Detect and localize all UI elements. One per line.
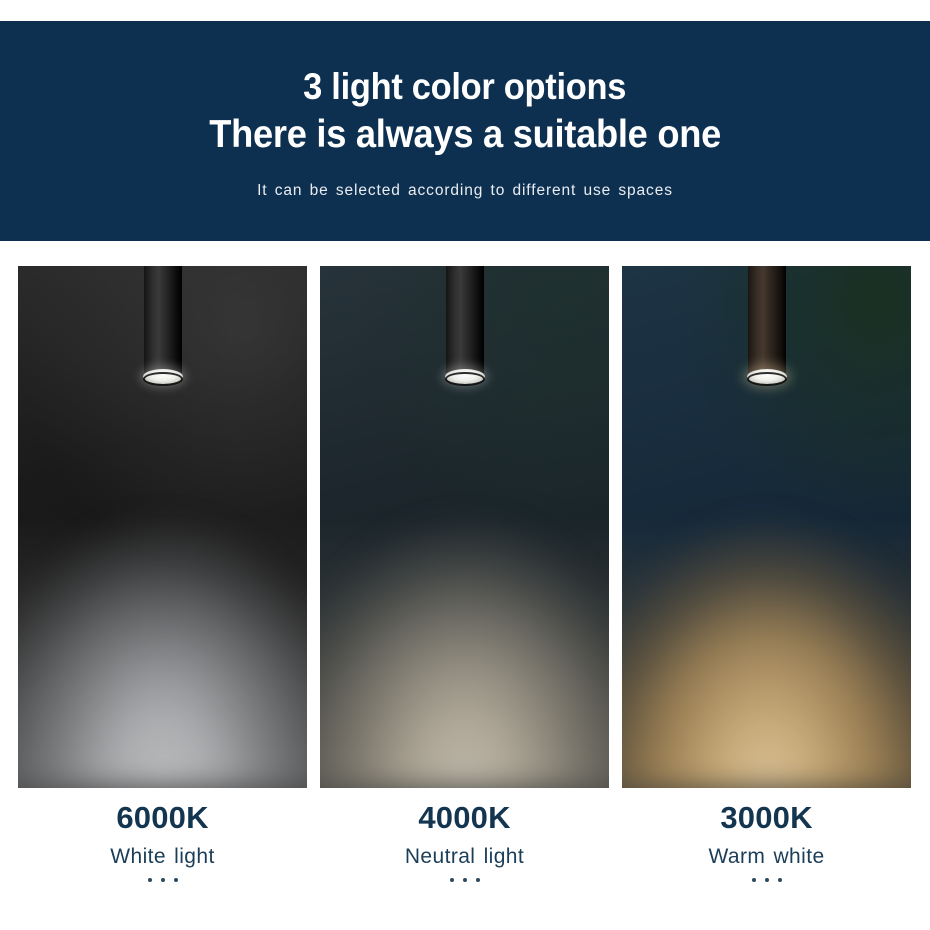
light-name-label: White light: [18, 845, 307, 869]
dot: [148, 878, 152, 882]
caption-6000k: 6000K White light: [18, 800, 307, 882]
page-title-line-1: 3 light color options: [304, 67, 627, 106]
product-feature-page: 3 light color options There is always a …: [0, 0, 930, 930]
dot-indicator: [622, 878, 911, 882]
lamp-rim: [747, 372, 787, 386]
lamp-rim: [445, 372, 485, 386]
floor-wash: [18, 517, 307, 788]
caption-3000k: 3000K Warm white: [622, 800, 911, 882]
floor-wash: [622, 517, 911, 788]
floor-wash: [320, 517, 609, 788]
caption-4000k: 4000K Neutral light: [320, 800, 609, 882]
kelvin-value: 3000K: [622, 800, 911, 836]
light-scene-panel-6000k: [18, 266, 307, 788]
dot: [476, 878, 480, 882]
dot: [778, 878, 782, 882]
light-name-label: Warm white: [622, 845, 911, 869]
light-scene-panel-4000k: [320, 266, 609, 788]
dot: [765, 878, 769, 882]
page-title-line-2: There is always a suitable one: [209, 114, 721, 155]
dot: [752, 878, 756, 882]
dot: [174, 878, 178, 882]
dot-indicator: [18, 878, 307, 882]
cylinder-downlight-icon: [144, 266, 182, 386]
dot: [450, 878, 454, 882]
kelvin-value: 4000K: [320, 800, 609, 836]
kelvin-value: 6000K: [18, 800, 307, 836]
header-banner: 3 light color options There is always a …: [0, 21, 930, 241]
light-scene-panel-3000k: [622, 266, 911, 788]
lamp-tube: [748, 266, 786, 376]
light-color-gallery: [0, 266, 930, 788]
cylinder-downlight-icon: [748, 266, 786, 386]
light-name-label: Neutral light: [320, 845, 609, 869]
cylinder-downlight-icon: [446, 266, 484, 386]
dot: [463, 878, 467, 882]
lamp-rim: [143, 372, 183, 386]
color-temperature-captions: 6000K White light 4000K Neutral light 30…: [0, 800, 930, 930]
dot: [161, 878, 165, 882]
dot-indicator: [320, 878, 609, 882]
page-subtitle: It can be selected according to differen…: [257, 182, 673, 200]
lamp-tube: [144, 266, 182, 376]
lamp-tube: [446, 266, 484, 376]
